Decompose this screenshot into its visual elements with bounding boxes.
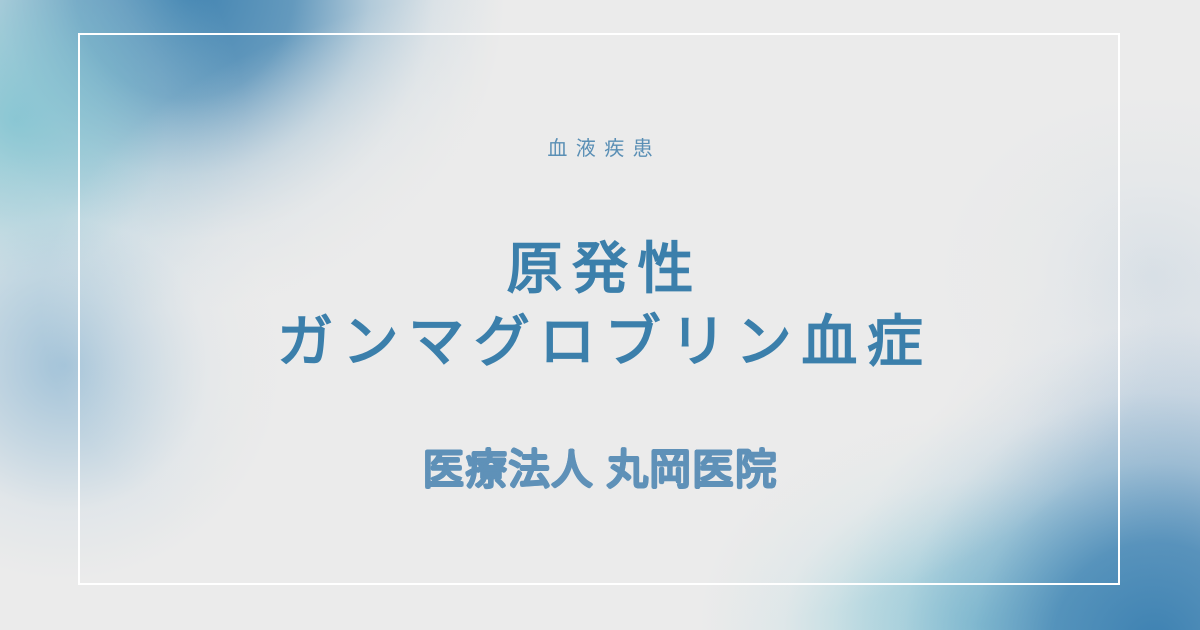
category-label: 血液疾患	[539, 139, 661, 159]
page-title-line-2: ガンマグロブリン血症	[268, 306, 933, 379]
title-card-content: 血液疾患 原発性 ガンマグロブリン血症 医療法人 丸岡医院	[0, 0, 1200, 630]
organization-name: 医療法人 丸岡医院	[422, 449, 777, 491]
page-title: 原発性 ガンマグロブリン血症	[268, 233, 933, 379]
title-card: 血液疾患 原発性 ガンマグロブリン血症 医療法人 丸岡医院	[0, 0, 1200, 630]
page-title-line-1: 原発性	[268, 233, 933, 306]
